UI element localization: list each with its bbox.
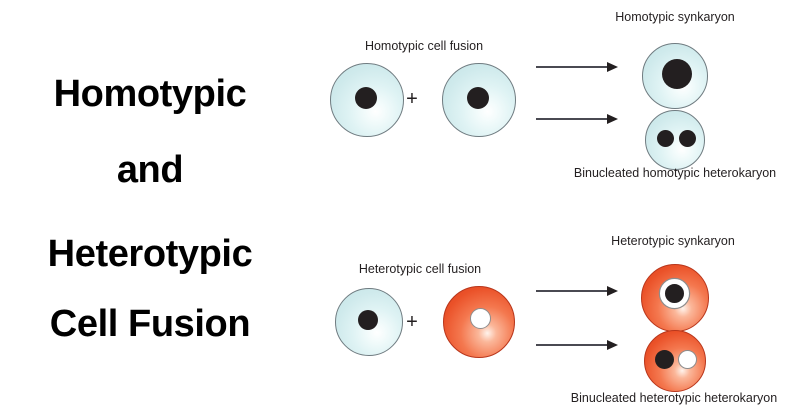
nucleus-hollow (678, 350, 697, 369)
parent-cell-cyan-2 (442, 63, 516, 137)
arrow-shaft (536, 344, 608, 346)
arrow-shaft (536, 66, 608, 68)
binucleated-homotypic-heterokaryon-label: Binucleated homotypic heterokaryon (574, 166, 776, 180)
title-line-4: Cell Fusion (50, 305, 250, 345)
title-line-2: and (117, 151, 183, 191)
nucleus-dark (358, 310, 378, 330)
title-line-1: Homotypic (54, 75, 247, 115)
nucleus-dark (655, 350, 674, 369)
arrow-head (607, 340, 618, 350)
homotypic-synkaryon-cell (642, 43, 708, 109)
arrow-head (607, 114, 618, 124)
parent-cell-cyan-3 (335, 288, 403, 356)
nucleus-dark (679, 130, 696, 147)
title-block: Homotypic and Heterotypic Cell Fusion (0, 0, 300, 420)
parent-cell-cyan-1 (330, 63, 404, 137)
diagram-canvas: Homotypic and Heterotypic Cell Fusion Ho… (0, 0, 800, 420)
heterotypic-cell-fusion-label: Heterotypic cell fusion (359, 262, 481, 276)
plus-operator-homotypic: + (406, 89, 418, 109)
nucleus-ringed (660, 279, 689, 308)
heterotypic-synkaryon-label: Heterotypic synkaryon (611, 234, 735, 248)
binucleated-homotypic-heterokaryon-cell (645, 110, 705, 170)
arrow-to-binucleated-homotypic (536, 114, 618, 124)
arrow-shaft (536, 118, 608, 120)
title-line-3: Heterotypic (48, 235, 253, 275)
arrow-head (607, 286, 618, 296)
nucleus-dark (657, 130, 674, 147)
arrow-shaft (536, 290, 608, 292)
homotypic-synkaryon-label: Homotypic synkaryon (615, 10, 735, 24)
nucleus-dark-large (662, 59, 692, 89)
binucleated-heterotypic-heterokaryon-cell (644, 330, 706, 392)
arrow-head (607, 62, 618, 72)
binucleated-heterotypic-heterokaryon-label: Binucleated heterotypic heterokaryon (571, 391, 777, 405)
arrow-to-binucleated-heterotypic (536, 340, 618, 350)
nucleus-dark (355, 87, 377, 109)
parent-cell-red-1 (443, 286, 515, 358)
nucleus-dark (467, 87, 489, 109)
heterotypic-synkaryon-cell (641, 264, 709, 332)
homotypic-cell-fusion-label: Homotypic cell fusion (365, 39, 483, 53)
nucleus-hollow (470, 308, 491, 329)
plus-operator-heterotypic: + (406, 312, 418, 332)
arrow-to-heterotypic-synkaryon (536, 286, 618, 296)
arrow-to-homotypic-synkaryon (536, 62, 618, 72)
